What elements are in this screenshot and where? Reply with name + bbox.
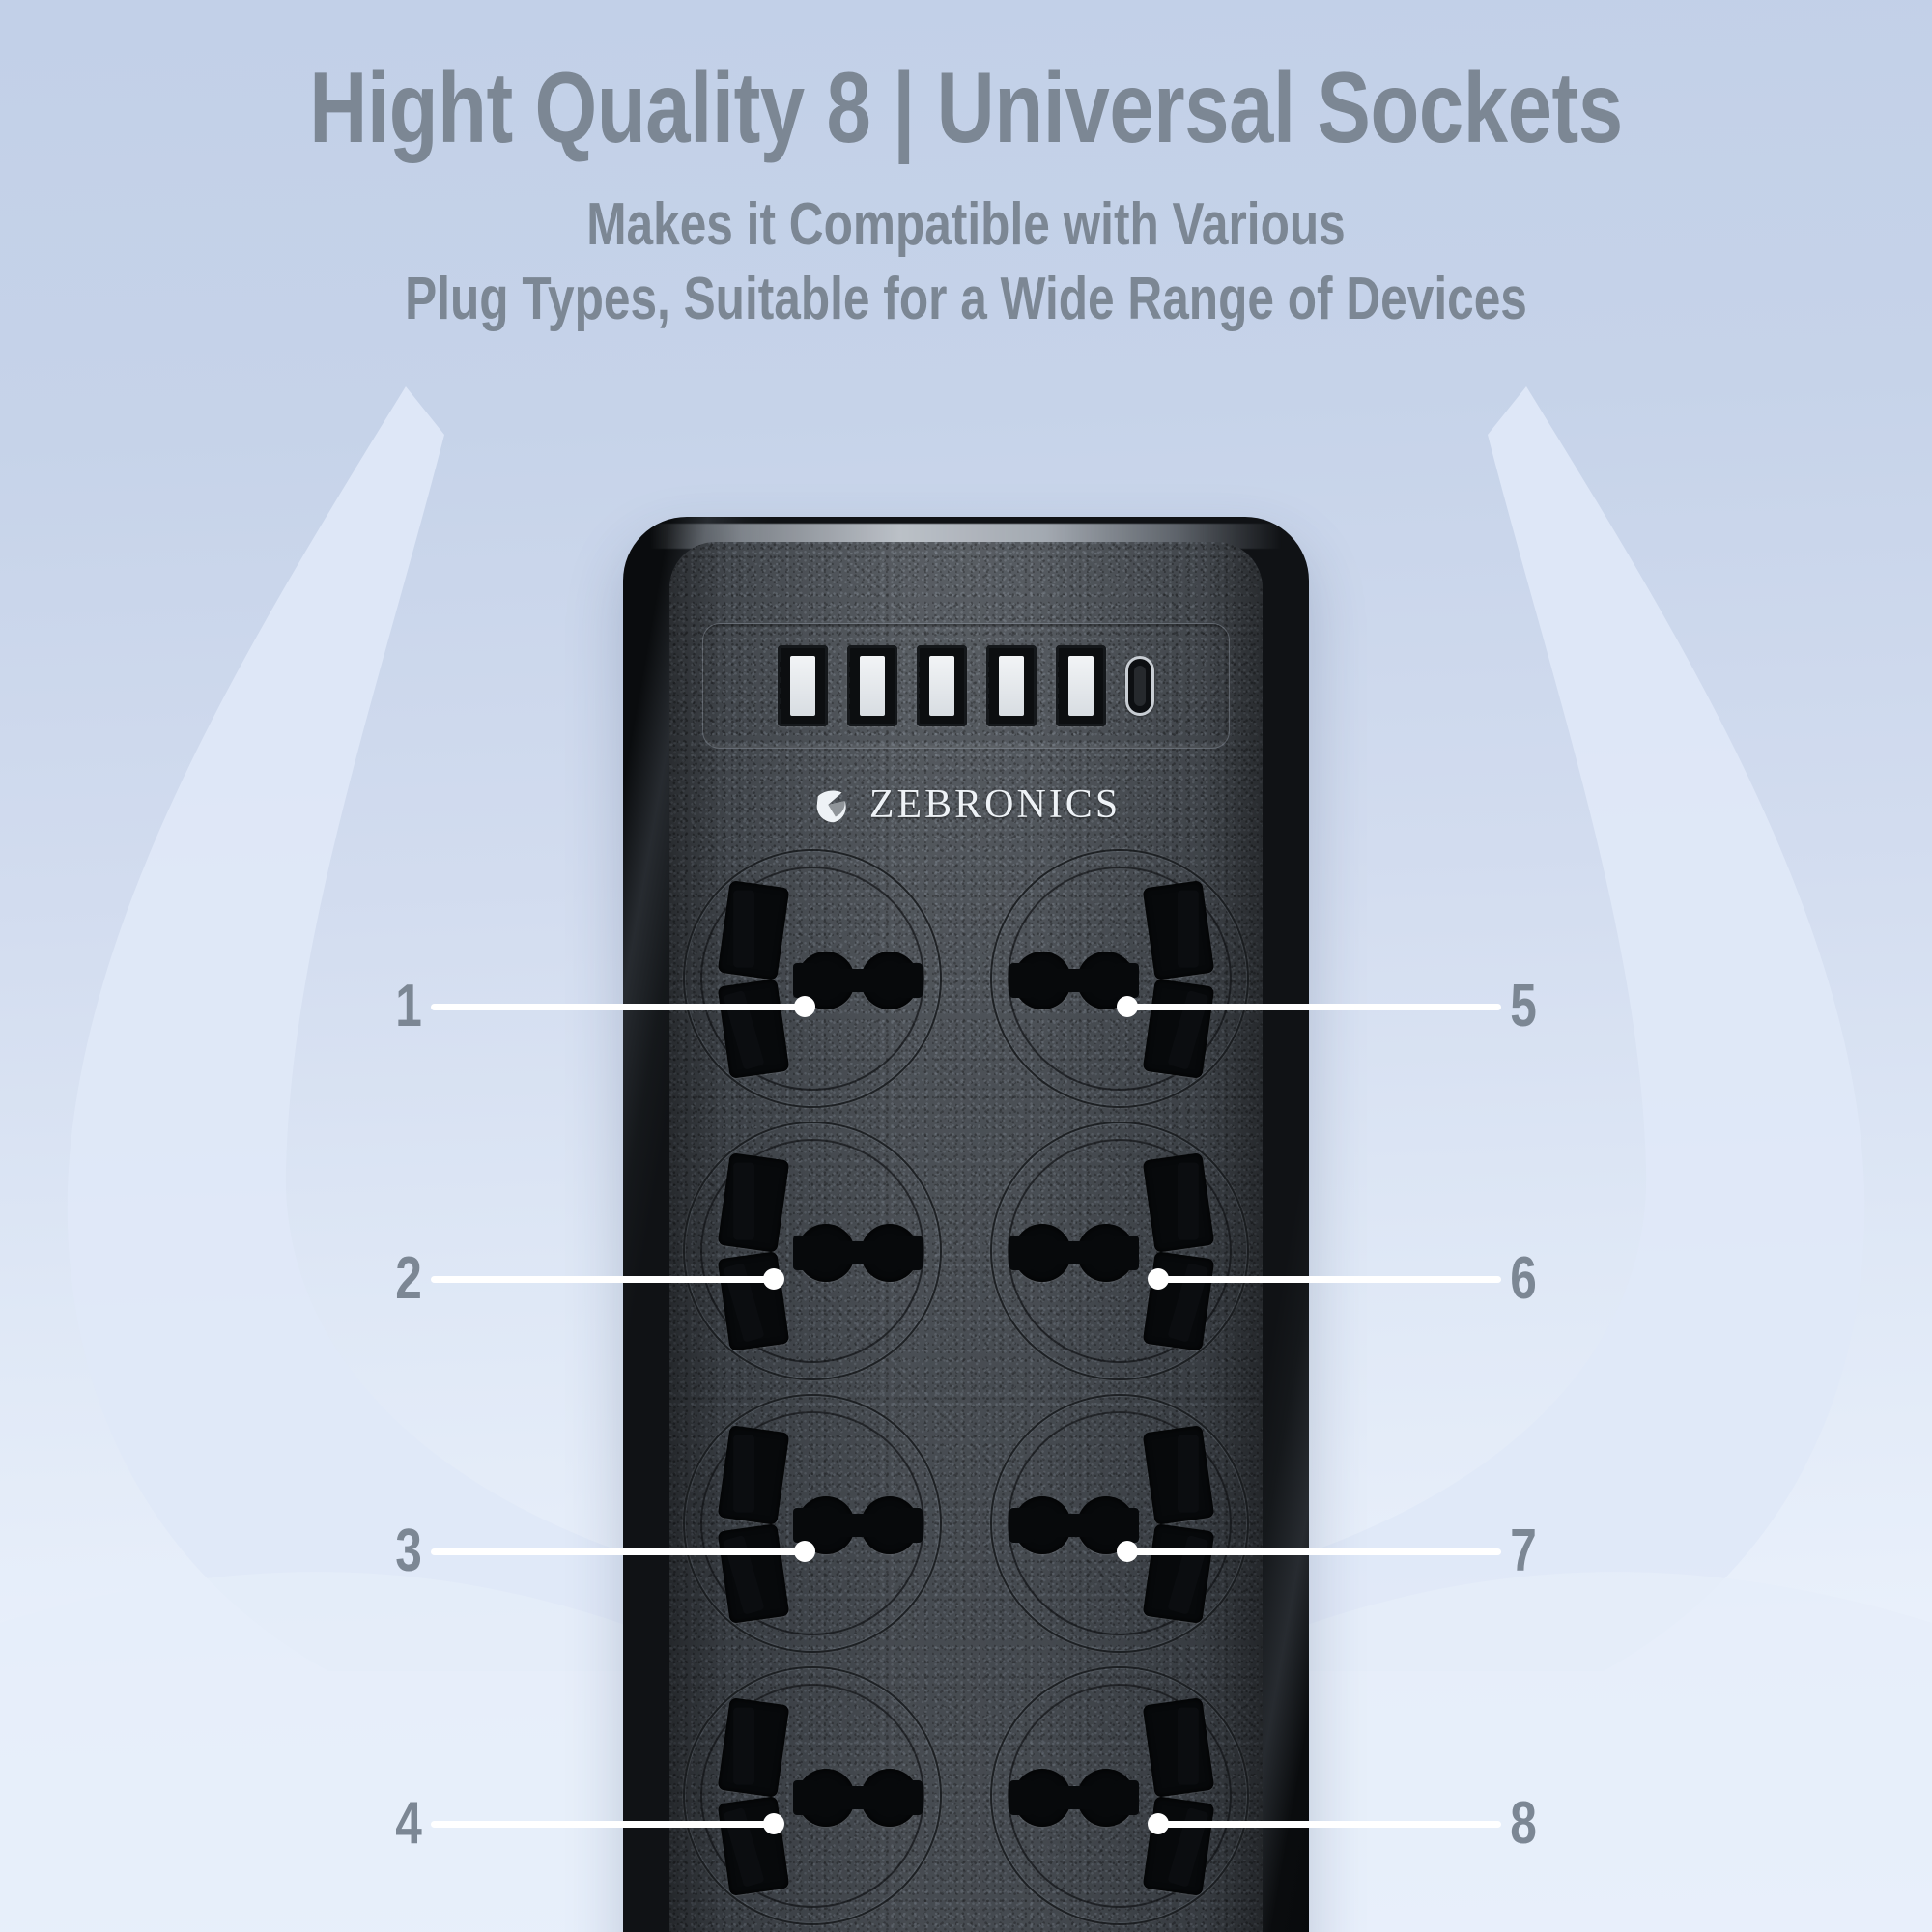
callout-number: 2 bbox=[391, 1249, 427, 1309]
socket-bridge bbox=[1042, 969, 1106, 992]
socket-round-pin-group bbox=[797, 1765, 919, 1831]
callout-leader-line bbox=[431, 1548, 798, 1555]
callout-leader-line bbox=[1165, 1821, 1501, 1828]
socket-tab bbox=[1009, 1508, 1035, 1543]
socket-bridge bbox=[826, 1786, 890, 1809]
usb-port-panel bbox=[702, 623, 1230, 749]
socket-tab bbox=[1009, 1236, 1035, 1270]
zebronics-emblem-icon bbox=[811, 782, 856, 827]
callout-leader-line bbox=[431, 1821, 767, 1828]
callout-6: 6 bbox=[1151, 1260, 1546, 1298]
socket-tab bbox=[897, 1780, 923, 1815]
callout-number: 5 bbox=[1506, 977, 1542, 1037]
brand-logo: ZEBRONICS bbox=[669, 778, 1263, 832]
socket-bridge bbox=[1042, 1514, 1106, 1537]
callout-leader-line bbox=[1134, 1548, 1501, 1555]
callout-dot bbox=[763, 1268, 784, 1290]
callout-number: 6 bbox=[1506, 1249, 1542, 1309]
callout-number: 4 bbox=[391, 1794, 427, 1854]
socket-tab bbox=[1009, 1780, 1035, 1815]
socket-row bbox=[669, 1666, 1263, 1925]
usb-a-tongue bbox=[999, 656, 1024, 716]
universal-socket[interactable] bbox=[683, 1666, 942, 1925]
infographic-canvas: Hight Quality 8 | Universal Sockets Make… bbox=[0, 0, 1932, 1932]
socket-flat-slot bbox=[718, 1152, 790, 1253]
usb-a-port[interactable] bbox=[778, 645, 828, 726]
universal-socket[interactable] bbox=[683, 849, 942, 1108]
callout-leader-line bbox=[1134, 1004, 1501, 1010]
callout-number: 7 bbox=[1506, 1521, 1542, 1581]
socket-flat-slot bbox=[718, 1697, 790, 1798]
socket-round-pin-group bbox=[797, 948, 919, 1013]
callout-5: 5 bbox=[1121, 987, 1546, 1026]
power-strip-product: ZEBRONICS bbox=[623, 517, 1309, 1932]
subtitle-line-2: Plug Types, Suitable for a Wide Range of… bbox=[193, 266, 1739, 334]
socket-bridge bbox=[826, 969, 890, 992]
callout-dot bbox=[794, 996, 815, 1017]
universal-socket[interactable] bbox=[683, 1122, 942, 1380]
socket-bridge bbox=[1042, 1241, 1106, 1264]
universal-socket[interactable] bbox=[990, 849, 1249, 1108]
socket-bridge bbox=[826, 1241, 890, 1264]
callout-leader-line bbox=[1165, 1276, 1501, 1283]
socket-flat-slot bbox=[1143, 880, 1215, 980]
universal-socket[interactable] bbox=[683, 1394, 942, 1653]
usb-a-tongue bbox=[860, 656, 885, 716]
socket-tab bbox=[1114, 1780, 1139, 1815]
socket-flat-slot bbox=[1143, 1425, 1215, 1525]
socket-round-pin-group bbox=[1013, 1220, 1135, 1286]
socket-tab bbox=[1009, 963, 1035, 998]
socket-row bbox=[669, 849, 1263, 1108]
callout-dot bbox=[794, 1541, 815, 1562]
socket-tab bbox=[1114, 1236, 1139, 1270]
usb-c-port[interactable] bbox=[1125, 656, 1154, 716]
socket-tab bbox=[897, 963, 923, 998]
callout-leader-line bbox=[431, 1276, 767, 1283]
subtitle-line-1: Makes it Compatible with Various bbox=[193, 191, 1739, 260]
callout-4: 4 bbox=[386, 1804, 781, 1843]
socket-flat-slot bbox=[718, 880, 790, 980]
callout-2: 2 bbox=[386, 1260, 781, 1298]
callout-dot bbox=[763, 1813, 784, 1834]
usb-a-port[interactable] bbox=[917, 645, 967, 726]
brand-wordmark: ZEBRONICS bbox=[869, 784, 1121, 825]
usb-a-tongue bbox=[1068, 656, 1094, 716]
socket-round-pin-group bbox=[1013, 1765, 1135, 1831]
callout-number: 8 bbox=[1506, 1794, 1542, 1854]
callout-1: 1 bbox=[386, 987, 811, 1026]
header-block: Hight Quality 8 | Universal Sockets Make… bbox=[0, 0, 1932, 334]
callout-leader-line bbox=[431, 1004, 798, 1010]
socket-round-pin-group bbox=[797, 1492, 919, 1558]
socket-flat-slot bbox=[1143, 1152, 1215, 1253]
socket-flat-slot bbox=[1143, 1697, 1215, 1798]
socket-bridge bbox=[826, 1514, 890, 1537]
universal-socket[interactable] bbox=[990, 1122, 1249, 1380]
callout-7: 7 bbox=[1121, 1532, 1546, 1571]
socket-row bbox=[669, 1122, 1263, 1380]
socket-row bbox=[669, 1394, 1263, 1653]
socket-tab bbox=[897, 1508, 923, 1543]
universal-socket[interactable] bbox=[990, 1666, 1249, 1925]
callout-3: 3 bbox=[386, 1532, 811, 1571]
usb-a-tongue bbox=[929, 656, 954, 716]
callout-8: 8 bbox=[1151, 1804, 1546, 1843]
usb-a-port[interactable] bbox=[1056, 645, 1106, 726]
page-title: Hight Quality 8 | Universal Sockets bbox=[193, 56, 1739, 160]
socket-round-pin-group bbox=[797, 1220, 919, 1286]
usb-a-port[interactable] bbox=[847, 645, 897, 726]
socket-flat-slot bbox=[718, 1425, 790, 1525]
socket-bridge bbox=[1042, 1786, 1106, 1809]
socket-tab bbox=[897, 1236, 923, 1270]
strip-top-face: ZEBRONICS bbox=[669, 542, 1263, 1932]
usb-c-slot bbox=[1134, 666, 1146, 706]
callout-number: 3 bbox=[391, 1521, 427, 1581]
universal-socket[interactable] bbox=[990, 1394, 1249, 1653]
usb-a-port[interactable] bbox=[986, 645, 1037, 726]
usb-a-tongue bbox=[790, 656, 815, 716]
socket-tab bbox=[793, 1236, 818, 1270]
socket-tab bbox=[793, 1780, 818, 1815]
callout-number: 1 bbox=[391, 977, 427, 1037]
